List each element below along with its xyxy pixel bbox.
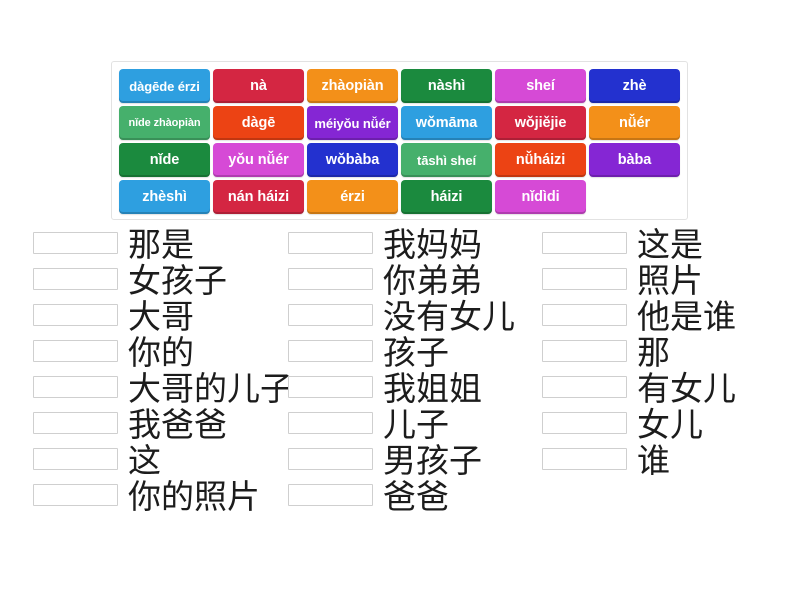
answer-column: 这是照片他是谁那有女儿女儿谁 <box>504 228 756 516</box>
word-tile[interactable]: dàgē <box>213 106 304 140</box>
word-tile[interactable]: nǚháizi <box>495 143 586 177</box>
answer-drop-box[interactable] <box>542 412 627 434</box>
word-tile[interactable]: nǐde zhàopiàn <box>119 106 210 140</box>
answer-row: 你的 <box>33 336 252 372</box>
answer-drop-box[interactable] <box>288 412 373 434</box>
answer-row: 谁 <box>542 444 756 480</box>
word-tile[interactable]: bàba <box>589 143 680 177</box>
answer-row: 你弟弟 <box>288 264 504 300</box>
answer-prompt-text: 孩子 <box>383 336 449 370</box>
answer-drop-box[interactable] <box>542 376 627 398</box>
word-bank-panel: dàgēde érzinàzhàopiànnàshìsheízhènǐde zh… <box>111 61 688 220</box>
word-tile[interactable]: méiyǒu nǚér <box>307 106 398 140</box>
answer-row: 没有女儿 <box>288 300 504 336</box>
answer-row: 照片 <box>542 264 756 300</box>
word-tile[interactable]: háizi <box>401 180 492 214</box>
answer-column: 我妈妈你弟弟没有女儿孩子我姐姐儿子男孩子爸爸 <box>252 228 504 516</box>
answer-prompt-text: 那 <box>637 336 670 370</box>
answer-row: 那 <box>542 336 756 372</box>
answer-drop-box[interactable] <box>288 484 373 506</box>
word-tile[interactable]: dàgēde érzi <box>119 69 210 103</box>
answer-row: 你的照片 <box>33 480 252 516</box>
answer-prompt-text: 那是 <box>128 228 194 262</box>
answer-drop-box[interactable] <box>542 232 627 254</box>
answer-prompt-text: 这是 <box>637 228 703 262</box>
answer-drop-box[interactable] <box>288 304 373 326</box>
answer-column: 那是女孩子大哥你的大哥的儿子我爸爸这你的照片 <box>0 228 252 516</box>
answer-drop-box[interactable] <box>33 232 118 254</box>
answer-row: 那是 <box>33 228 252 264</box>
answer-prompt-text: 女儿 <box>637 408 703 442</box>
answer-prompt-text: 爸爸 <box>383 480 449 514</box>
answer-row: 他是谁 <box>542 300 756 336</box>
answer-drop-box[interactable] <box>542 340 627 362</box>
answer-prompt-text: 大哥 <box>128 300 194 334</box>
answer-drop-box[interactable] <box>288 448 373 470</box>
answer-drop-box[interactable] <box>33 412 118 434</box>
answer-drop-box[interactable] <box>33 268 118 290</box>
answer-row: 我爸爸 <box>33 408 252 444</box>
answer-row: 我姐姐 <box>288 372 504 408</box>
answer-prompt-text: 我爸爸 <box>128 408 227 442</box>
answer-columns: 那是女孩子大哥你的大哥的儿子我爸爸这你的照片我妈妈你弟弟没有女儿孩子我姐姐儿子男… <box>0 228 800 516</box>
word-tile[interactable]: yǒu nǚér <box>213 143 304 177</box>
answer-drop-box[interactable] <box>33 304 118 326</box>
answer-prompt-text: 这 <box>128 444 161 478</box>
answer-prompt-text: 我姐姐 <box>383 372 482 406</box>
answer-drop-box[interactable] <box>288 268 373 290</box>
answer-row: 这是 <box>542 228 756 264</box>
answer-drop-box[interactable] <box>542 304 627 326</box>
answer-row: 男孩子 <box>288 444 504 480</box>
answer-prompt-text: 儿子 <box>383 408 449 442</box>
word-bank-row: dàgēde érzinàzhàopiànnàshìsheízhè <box>119 69 681 103</box>
answer-drop-box[interactable] <box>33 376 118 398</box>
word-tile[interactable]: nàshì <box>401 69 492 103</box>
answer-drop-box[interactable] <box>288 340 373 362</box>
answer-prompt-text: 女孩子 <box>128 264 227 298</box>
answer-drop-box[interactable] <box>542 448 627 470</box>
answer-drop-box[interactable] <box>288 376 373 398</box>
word-tile[interactable]: zhàopiàn <box>307 69 398 103</box>
answer-prompt-text: 你的照片 <box>128 480 260 514</box>
answer-prompt-text: 你弟弟 <box>383 264 482 298</box>
word-tile[interactable]: nǐdìdi <box>495 180 586 214</box>
answer-row: 孩子 <box>288 336 504 372</box>
answer-drop-box[interactable] <box>33 448 118 470</box>
word-tile[interactable]: nǐde <box>119 143 210 177</box>
word-tile[interactable]: zhè <box>589 69 680 103</box>
word-tile[interactable]: wǒjiějie <box>495 106 586 140</box>
answer-row: 儿子 <box>288 408 504 444</box>
word-tile[interactable]: érzi <box>307 180 398 214</box>
answer-row: 女孩子 <box>33 264 252 300</box>
answer-drop-box[interactable] <box>288 232 373 254</box>
answer-drop-box[interactable] <box>33 340 118 362</box>
word-bank-row: nǐde zhàopiàndàgēméiyǒu nǚérwǒmāmawǒjiěj… <box>119 106 681 140</box>
answer-row: 女儿 <box>542 408 756 444</box>
word-tile[interactable]: nà <box>213 69 304 103</box>
answer-prompt-text: 谁 <box>637 444 670 478</box>
answer-prompt-text: 男孩子 <box>383 444 482 478</box>
answer-drop-box[interactable] <box>542 268 627 290</box>
answer-row: 大哥的儿子 <box>33 372 252 408</box>
word-tile[interactable]: wǒmāma <box>401 106 492 140</box>
answer-drop-box[interactable] <box>33 484 118 506</box>
answer-row: 大哥 <box>33 300 252 336</box>
answer-prompt-text: 他是谁 <box>637 300 736 334</box>
answer-row: 我妈妈 <box>288 228 504 264</box>
word-bank-row: nǐdeyǒu nǚérwǒbàbatāshì sheínǚháizibàba <box>119 143 681 177</box>
answer-row: 有女儿 <box>542 372 756 408</box>
word-tile[interactable]: zhèshì <box>119 180 210 214</box>
word-tile[interactable]: tāshì sheí <box>401 143 492 177</box>
answer-prompt-text: 你的 <box>128 336 194 370</box>
word-tile[interactable]: sheí <box>495 69 586 103</box>
answer-prompt-text: 我妈妈 <box>383 228 482 262</box>
word-tile[interactable]: nǚér <box>589 106 680 140</box>
word-tile[interactable]: nán háizi <box>213 180 304 214</box>
matchup-activity: dàgēde érzinàzhàopiànnàshìsheízhènǐde zh… <box>0 0 800 600</box>
answer-row: 这 <box>33 444 252 480</box>
answer-prompt-text: 有女儿 <box>637 372 736 406</box>
word-tile[interactable]: wǒbàba <box>307 143 398 177</box>
answer-row: 爸爸 <box>288 480 504 516</box>
answer-prompt-text: 照片 <box>637 264 703 298</box>
word-bank-row: zhèshìnán háiziérziháizinǐdìdi <box>119 180 681 214</box>
answer-prompt-text: 没有女儿 <box>383 300 515 334</box>
